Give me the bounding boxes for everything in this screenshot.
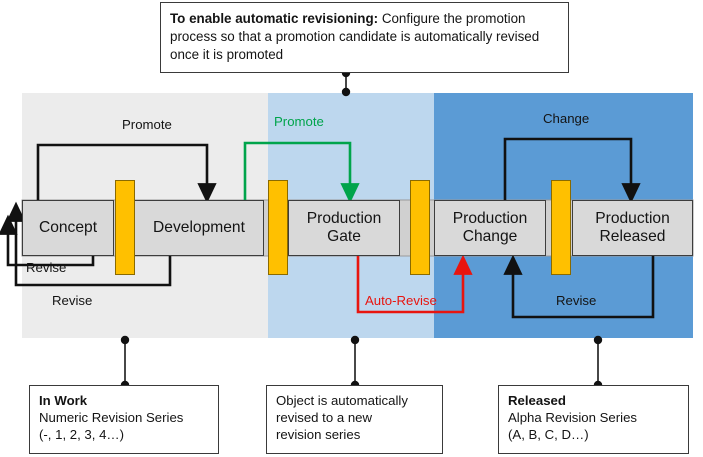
- callout-auto-revise-line1: Object is automatically: [276, 392, 434, 409]
- callout-in-work-line3: (-, 1, 2, 3, 4…): [39, 426, 210, 443]
- callout-in-work-title-text: In Work: [39, 393, 87, 408]
- callout-released-title-text: Released: [508, 393, 566, 408]
- state-development-label: Development: [153, 219, 245, 237]
- leader-dot-in-work-top: [121, 336, 129, 344]
- state-development[interactable]: Development: [134, 200, 264, 256]
- callout-released-line3: (A, B, C, D…): [508, 426, 680, 443]
- state-production-released-label-line1: Production: [595, 210, 670, 228]
- gate-concept-development[interactable]: [115, 180, 135, 275]
- callout-auto-revise-line3: revision series: [276, 426, 434, 443]
- callout-in-work-line2: Numeric Revision Series: [39, 409, 210, 426]
- gate-change-released[interactable]: [551, 180, 571, 275]
- callout-auto-revise-line2: revised to a new: [276, 409, 434, 426]
- state-production-gate[interactable]: Production Gate: [288, 200, 400, 256]
- callout-in-work-title: In Work: [39, 392, 210, 409]
- state-production-change-label-line2: Change: [463, 228, 518, 246]
- callout-automatic-revisioning-text: To enable automatic revisioning: Configu…: [170, 11, 539, 62]
- label-revise-development-concept: Revise: [26, 260, 66, 275]
- state-production-released[interactable]: Production Released: [572, 200, 693, 256]
- label-revise-gate-concept: Revise: [52, 293, 92, 308]
- leader-dot-released-top: [594, 336, 602, 344]
- callout-automatic-revisioning-lead: To enable automatic revisioning:: [170, 11, 378, 26]
- leader-dot-top-lower: [342, 88, 350, 96]
- state-concept[interactable]: Concept: [22, 200, 114, 256]
- state-production-change[interactable]: Production Change: [434, 200, 546, 256]
- callout-auto-revise-note: Object is automatically revised to a new…: [266, 385, 443, 454]
- label-promote-development-gate: Promote: [274, 114, 324, 129]
- label-revise-released-change: Revise: [556, 293, 596, 308]
- callout-released-title: Released: [508, 392, 680, 409]
- callout-released: Released Alpha Revision Series (A, B, C,…: [498, 385, 689, 454]
- state-concept-label: Concept: [39, 219, 97, 237]
- leader-dot-auto-top: [351, 336, 359, 344]
- state-production-gate-label-line1: Production: [307, 210, 382, 228]
- label-auto-revise-gate-change: Auto-Revise: [365, 293, 437, 308]
- callout-in-work: In Work Numeric Revision Series (-, 1, 2…: [29, 385, 219, 454]
- workflow-diagram: Concept Development Production Gate Prod…: [0, 0, 703, 457]
- callout-released-line2: Alpha Revision Series: [508, 409, 680, 426]
- state-production-change-label-line1: Production: [453, 210, 528, 228]
- callout-automatic-revisioning: To enable automatic revisioning: Configu…: [160, 2, 569, 73]
- state-production-released-label-line2: Released: [600, 228, 666, 246]
- gate-production-gate-change[interactable]: [410, 180, 430, 275]
- gate-development-production-gate[interactable]: [268, 180, 288, 275]
- state-production-gate-label-line2: Gate: [327, 228, 361, 246]
- label-change-released-change: Change: [543, 111, 589, 126]
- label-promote-concept-development: Promote: [122, 117, 172, 132]
